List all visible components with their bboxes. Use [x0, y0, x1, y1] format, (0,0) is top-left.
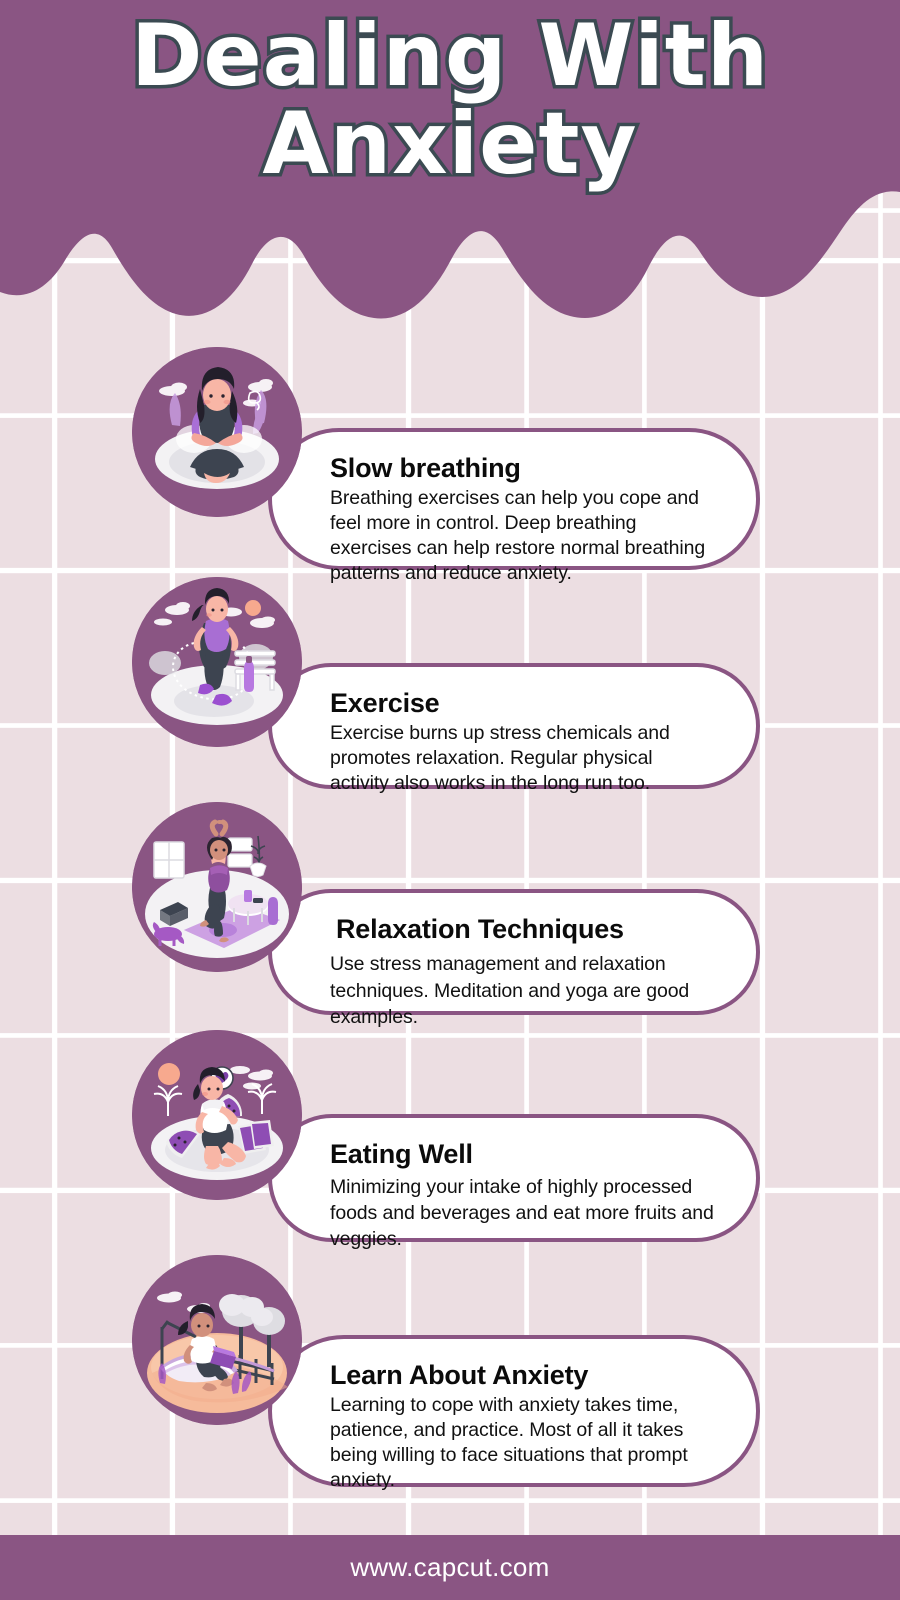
tip-card-1-title: Slow breathing	[330, 452, 716, 484]
woman-reading-hammock-icon	[132, 1255, 302, 1425]
woman-meditating-icon	[132, 347, 302, 517]
tip-card-1[interactable]: Slow breathing Breathing exercises can h…	[268, 428, 760, 570]
header-wave-shape	[0, 0, 900, 320]
tip-card-2-title: Exercise	[330, 687, 716, 719]
woman-jumping-rope-illustration	[132, 577, 302, 747]
tip-card-2[interactable]: Exercise Exercise burns up stress chemic…	[268, 663, 760, 789]
woman-jumping-rope-icon	[132, 577, 302, 747]
tip-card-4-title: Eating Well	[330, 1138, 716, 1170]
footer-bar: www.capcut.com	[0, 1535, 900, 1600]
woman-eating-watermelon-illustration	[132, 1030, 302, 1200]
woman-reading-hammock-illustration	[132, 1255, 302, 1425]
woman-meditating-illustration	[132, 347, 302, 517]
tip-card-4-body: Minimizing your intake of highly process…	[330, 1175, 716, 1252]
tip-card-5-title: Learn About Anxiety	[330, 1359, 716, 1391]
tip-card-3[interactable]: Relaxation Techniques Use stress managem…	[268, 889, 760, 1015]
tip-card-2-body: Exercise burns up stress chemicals and p…	[330, 721, 716, 796]
tip-card-3-body: Use stress management and relaxation tec…	[330, 951, 716, 1030]
header-banner: Dealing With Anxiety	[0, 0, 900, 320]
woman-eating-watermelon-icon	[132, 1030, 302, 1200]
tip-card-5-body: Learning to cope with anxiety takes time…	[330, 1393, 716, 1493]
tip-card-5[interactable]: Learn About Anxiety Learning to cope wit…	[268, 1335, 760, 1487]
woman-yoga-pose-icon	[132, 802, 302, 972]
tip-card-1-body: Breathing exercises can help you cope an…	[330, 486, 716, 586]
infographic-poster: Dealing With Anxiety	[0, 0, 900, 1600]
footer-url[interactable]: www.capcut.com	[350, 1552, 549, 1583]
tip-card-3-title: Relaxation Techniques	[336, 913, 716, 945]
tip-card-4[interactable]: Eating Well Minimizing your intake of hi…	[268, 1114, 760, 1242]
woman-yoga-pose-illustration	[132, 802, 302, 972]
